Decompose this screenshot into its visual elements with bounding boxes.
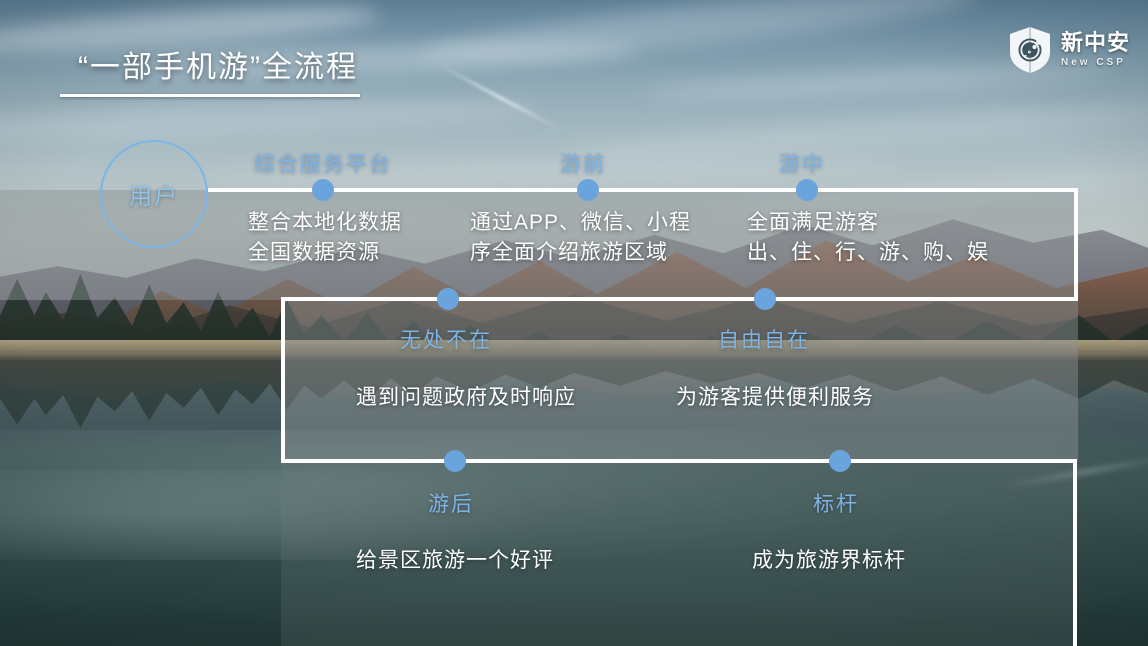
stage-desc-ziyouzizai: 为游客提供便利服务 [676, 383, 874, 413]
stage-label-youqian: 游前 [560, 148, 606, 178]
stage-desc-line: 成为旅游界标杆 [752, 546, 906, 576]
user-node-label: 用户 [129, 177, 179, 211]
stage-label-wuchubuzai: 无处不在 [400, 324, 492, 354]
stage-desc-youzhong: 全面满足游客 出、住、行、游、购、娱 [747, 208, 989, 268]
logo-english-name: New CSP [1061, 58, 1130, 68]
flow-line-row3-horizontal [281, 459, 1077, 463]
stage-label-biaogan: 标杆 [813, 488, 859, 518]
flow-node-7[interactable] [829, 450, 851, 472]
flow-node-6[interactable] [444, 450, 466, 472]
user-node-circle[interactable]: 用户 [100, 140, 208, 248]
brand-logo: 新中安 New CSP [1008, 26, 1130, 74]
stage-desc-youqian: 通过APP、微信、小程 序全面介绍旅游区域 [470, 208, 691, 268]
page-title: “一部手机游”全流程 [78, 42, 358, 86]
logo-wordmark: 新中安 New CSP [1061, 32, 1130, 68]
stage-desc-biaogan: 成为旅游界标杆 [752, 546, 906, 576]
stage-desc-line: 全国数据资源 [248, 238, 402, 268]
logo-chinese-name: 新中安 [1061, 32, 1130, 54]
stage-desc-line: 为游客提供便利服务 [676, 383, 874, 413]
stage-desc-youhou: 给景区旅游一个好评 [356, 546, 554, 576]
flow-node-1[interactable] [312, 179, 334, 201]
flow-node-2[interactable] [577, 179, 599, 201]
presentation-slide: “一部手机游”全流程 新中安 New CSP 用户 [0, 0, 1148, 646]
stage-desc-line: 序全面介绍旅游区域 [470, 238, 691, 268]
stage-label-youhou: 游后 [428, 488, 474, 518]
title-underline [60, 94, 360, 97]
stage-desc-zonghefuwupingtai: 整合本地化数据 全国数据资源 [248, 208, 402, 268]
stage-label-youzhong: 游中 [779, 148, 825, 178]
stage-desc-line: 出、住、行、游、购、娱 [747, 238, 989, 268]
stage-desc-line: 遇到问题政府及时响应 [356, 383, 576, 413]
shield-logo-icon [1008, 26, 1052, 74]
stage-desc-line: 通过APP、微信、小程 [470, 208, 691, 238]
flow-node-4[interactable] [437, 288, 459, 310]
flow-line-row1-horizontal [208, 188, 1078, 192]
flow-line-row2-horizontal [281, 297, 1078, 301]
stage-desc-wuchubuzai: 遇到问题政府及时响应 [356, 383, 576, 413]
flow-line-row1-to-row2 [1074, 188, 1078, 301]
flow-line-row3-tail [1073, 459, 1077, 646]
stage-desc-line: 给景区旅游一个好评 [356, 546, 554, 576]
flow-node-5[interactable] [754, 288, 776, 310]
stage-label-zonghefuwupingtai: 综合服务平台 [254, 148, 392, 178]
stage-desc-line: 整合本地化数据 [248, 208, 402, 238]
flow-line-row2-to-row3 [281, 297, 285, 463]
stage-label-ziyouzizai: 自由自在 [718, 324, 810, 354]
stage-desc-line: 全面满足游客 [747, 208, 989, 238]
flow-node-3[interactable] [796, 179, 818, 201]
